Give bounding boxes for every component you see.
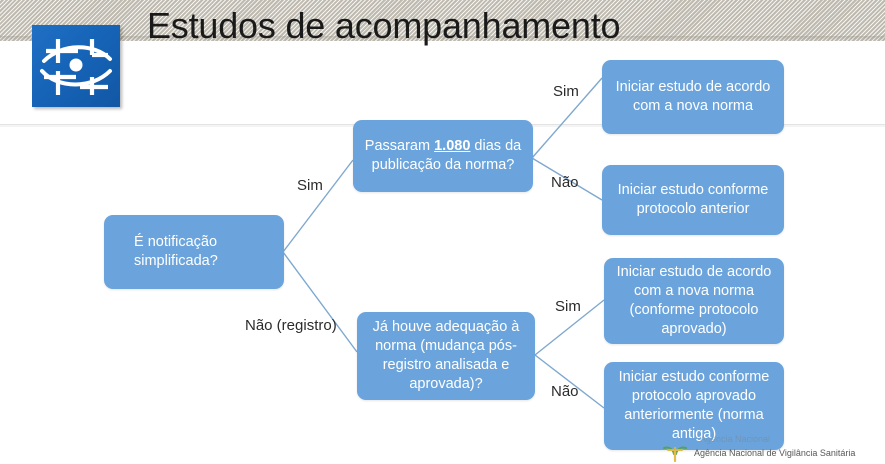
- node-outcome-nova-norma-protocolo-aprovado[interactable]: Iniciar estudo de acordo com a nova norm…: [604, 258, 784, 344]
- edge-label-1080-yes: Sim: [553, 82, 579, 101]
- anvisa-logo-glyph: [32, 25, 120, 107]
- node-decision-adequacao-label: Já houve adequação à norma (mudança pós-…: [367, 318, 525, 394]
- edge-start-to-adequacao: [283, 252, 357, 352]
- node-outcome-protocolo-anterior-label: Iniciar estudo conforme protocolo anteri…: [612, 181, 774, 219]
- days-count: 1.080: [434, 138, 470, 154]
- text-before: Passaram: [365, 138, 434, 154]
- node-outcome-nova-norma[interactable]: Iniciar estudo de acordo com a nova norm…: [602, 60, 784, 134]
- node-outcome-nova-norma-protocolo-label: Iniciar estudo de acordo com a nova norm…: [614, 263, 774, 339]
- footer-agency-name: Agência Nacional de Vigilância Sanitária: [694, 448, 855, 459]
- node-decision-1080-dias[interactable]: Passaram 1.080 dias da publicação da nor…: [353, 120, 533, 192]
- edge-label-adequacao-yes: Sim: [555, 297, 581, 316]
- edge-label-1080-no: Não: [551, 173, 579, 192]
- slide-title: Estudos de acompanhamento: [147, 4, 620, 48]
- node-outcome-nova-norma-label: Iniciar estudo de acordo com a nova norm…: [612, 78, 774, 116]
- node-outcome-protocolo-anterior[interactable]: Iniciar estudo conforme protocolo anteri…: [602, 165, 784, 235]
- anvisa-footer-icon: [662, 444, 688, 462]
- node-decision-1080-label: Passaram 1.080 dias da publicação da nor…: [363, 137, 523, 175]
- edge-label-start-yes: Sim: [297, 176, 323, 195]
- node-outcome-protocolo-aprovado-label: Iniciar estudo conforme protocolo aprova…: [614, 368, 774, 444]
- footer-ghost-text: Agência Nacional: [700, 434, 770, 444]
- anvisa-logo: [32, 25, 120, 107]
- edge-start-to-1080: [283, 160, 353, 252]
- node-start[interactable]: É notificaçãosimplificada?: [104, 215, 284, 289]
- footer-watermark: Agência Nacional de Vigilância Sanitária: [662, 444, 855, 462]
- node-decision-adequacao[interactable]: Já houve adequação à norma (mudança pós-…: [357, 312, 535, 400]
- edge-label-adequacao-no: Não: [551, 382, 579, 401]
- node-start-label: É notificaçãosimplificada?: [134, 233, 218, 271]
- presentation-slide: Estudos de acompanhamento: [0, 0, 885, 464]
- edge-label-start-no: Não (registro): [245, 316, 337, 335]
